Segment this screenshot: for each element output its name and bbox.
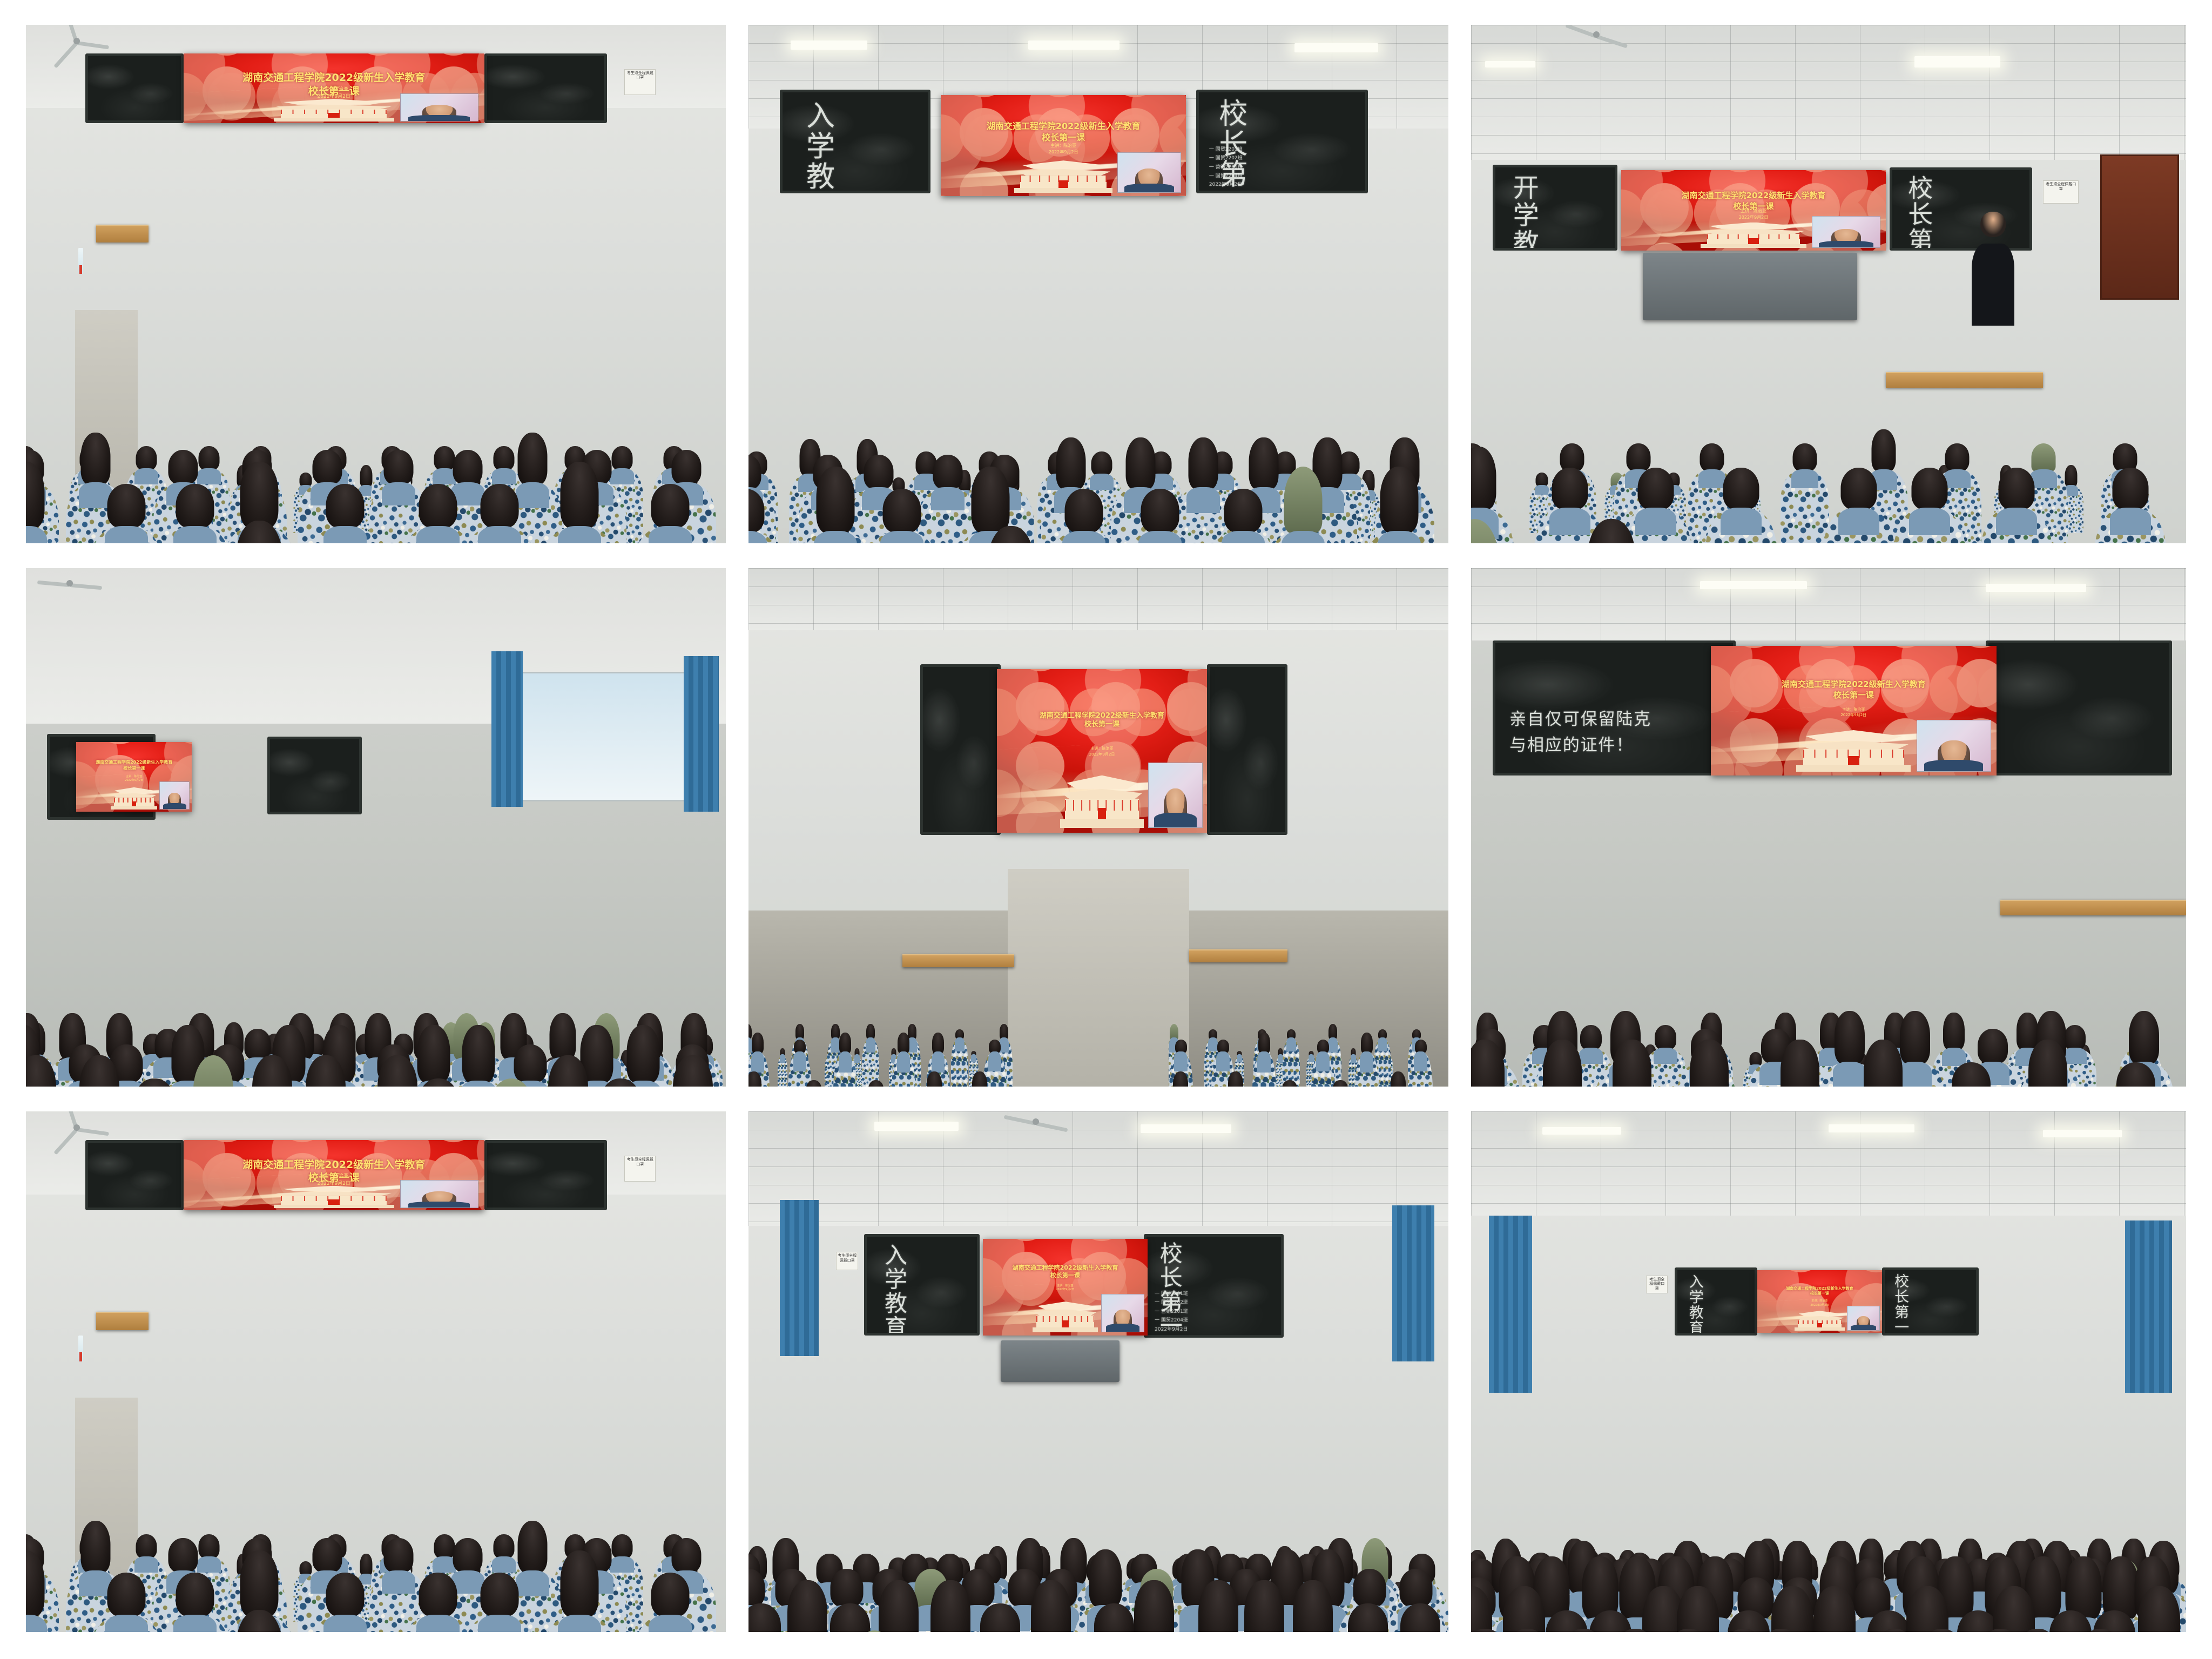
classroom-scene: 湖南交通工程学院2022级新生入学教育 校长第一课 主讲：陈治亚 2022年9月… (26, 1111, 726, 1632)
student-figure (26, 462, 64, 543)
student-figure (1380, 1603, 1448, 1632)
led-display: 湖南交通工程学院2022级新生入学教育 校长第一课 主讲：陈治亚 2022年9月… (184, 53, 484, 124)
student-figure (788, 1040, 812, 1087)
ceiling-light (1028, 41, 1119, 50)
student-figure (2097, 1062, 2175, 1087)
student-figure (748, 489, 784, 543)
blackboard-class-item: 一 国贸2202班 (1209, 156, 1243, 161)
seated-students (1471, 242, 2186, 543)
seated-students (26, 222, 726, 543)
student-figure (1355, 1033, 1379, 1087)
led-display: 湖南交通工程学院2022级新生入学教育 校长第一课 主讲：陈治亚 2022年9月… (184, 1140, 484, 1210)
student-figure (799, 1080, 829, 1087)
student-figure (1563, 519, 1660, 543)
ceiling (748, 568, 1448, 630)
slide-title-line2: 校长第一课 (1006, 720, 1199, 730)
seated-students-left (748, 765, 1028, 1087)
student-figure (1383, 1071, 1413, 1087)
seated-students (26, 1309, 726, 1632)
student-figure (1705, 468, 1777, 543)
student-figure (1220, 1071, 1251, 1087)
ceiling-light (791, 41, 868, 50)
blackboard-left (85, 53, 183, 124)
panel-2: 入学教育 校长第一课 一 国贸2201班一 国贸2202班一 营销2201班一 … (748, 25, 1448, 543)
student-figure (461, 484, 538, 543)
ceiling-fan-icon (1001, 1111, 1071, 1132)
blackboard-right (484, 1140, 607, 1210)
ceiling (1471, 25, 2186, 160)
student-figure (2053, 1629, 2149, 1632)
seated-students (26, 724, 726, 1087)
seated-students (748, 1289, 1448, 1632)
ceiling-light (1986, 584, 2086, 592)
slide-title: 湖南交通工程学院2022级新生入学教育 校长第一课 (951, 121, 1176, 143)
student-figure (26, 1550, 64, 1632)
slide-title-line1: 湖南交通工程学院2022级新生入学教育 (1006, 712, 1199, 721)
student-figure (307, 1573, 383, 1632)
student-figure (1283, 1029, 1300, 1087)
ceiling-light (1542, 1127, 1621, 1135)
speaker-video-inset (400, 93, 478, 122)
slide-subtitle: 主讲：陈治亚 2022年9月2日 (1006, 746, 1199, 757)
ceiling-light (1141, 1124, 1231, 1133)
ceiling-fan-icon (47, 30, 106, 52)
student-figure (1670, 1040, 1748, 1087)
student-figure (1471, 519, 1523, 543)
slide-title: 湖南交通工程学院2022级新生入学教育 校长第一课 (1006, 712, 1199, 730)
student-figure (1893, 468, 1966, 543)
student-figure (862, 1024, 879, 1087)
blackboard-class-item: 一 国贸2201班 (1209, 147, 1243, 152)
tiananmen-gate-graphic (1060, 775, 1144, 828)
slide-title-line2: 校长第一课 (989, 1272, 1141, 1279)
slide-title-line2: 校长第一课 (951, 132, 1176, 143)
classroom-scene: 入学教育 校长第一课 一 国贸2201班一 国贸2202班一 营销2201班一 … (748, 25, 1448, 543)
student-figure (88, 484, 165, 543)
student-figure (1311, 1040, 1335, 1087)
classroom-scene: 亲自仅可保留陆克 与相应的证件！ 湖南交通工程学院2022级新生入学教育 校长第… (1471, 568, 2186, 1087)
classroom-scene: 湖南交通工程学院2022级新生入学教育 校长第一课 主讲：陈治亚 2022年9月… (26, 568, 726, 1087)
tiananmen-gate-graphic (274, 1186, 394, 1209)
wall-notice: 考生须全程佩戴口罩 (2043, 180, 2079, 204)
student-figure (1523, 1040, 1601, 1087)
student-figure (1325, 1080, 1355, 1087)
classroom-scene: 湖南交通工程学院2022级新生入学教育 校长第一课 主讲：陈治亚 2022年9月… (26, 25, 726, 543)
student-figure (212, 1610, 306, 1632)
student-figure (541, 1550, 618, 1632)
panel-4: 湖南交通工程学院2022级新生入学教育 校长第一课 主讲：陈治亚 2022年9月… (26, 568, 726, 1087)
slide-title-line1: 湖南交通工程学院2022级新生入学教育 (195, 1158, 473, 1171)
student-figure (1733, 1629, 1829, 1632)
student-figure (286, 1055, 366, 1087)
student-figure (541, 462, 618, 543)
ceiling (1471, 568, 2186, 640)
student-figure (632, 484, 709, 543)
student-figure (827, 1630, 921, 1632)
student-figure (1122, 489, 1198, 543)
blackboard-class-item: 一 营销2201班 (1209, 165, 1243, 170)
slide-title: 湖南交通工程学院2022级新生入学教育 校长第一课 (989, 1264, 1141, 1279)
photo-collage: 湖南交通工程学院2022级新生入学教育 校长第一课 主讲：陈治亚 2022年9月… (0, 0, 2212, 1659)
classroom-scene: 入学教育 校长第一课 一 国贸2201班一 国贸2202班一 营销2201班一 … (748, 1111, 1448, 1632)
slide-presenter: 主讲：陈治亚 (195, 1173, 473, 1181)
student-figure (1471, 1040, 1524, 1087)
student-figure (748, 1071, 769, 1087)
panel-9: 入学教育 校长第一课 湖南交通工程学院2022级新生入学教育 校长第一课 主讲：… (1471, 1111, 2186, 1632)
slide-presenter: 主讲：陈治亚 (195, 86, 473, 94)
seated-students (748, 170, 1448, 543)
panel-7: 湖南交通工程学院2022级新生入学教育 校长第一课 主讲：陈治亚 2022年9月… (26, 1111, 726, 1632)
blackboard-right-text: 校长第一课 (1906, 175, 1932, 251)
ceiling-light (874, 1122, 959, 1130)
student-figure (1169, 1071, 1196, 1087)
ceiling-light (1914, 56, 2000, 68)
panel-1: 湖南交通工程学院2022级新生入学教育 校长第一课 主讲：陈治亚 2022年9月… (26, 25, 726, 543)
student-figure (88, 1573, 165, 1632)
student-figure (307, 484, 383, 543)
ceiling-fan-icon (47, 1117, 106, 1138)
slide-date: 2022年9月2日 (1006, 752, 1199, 758)
slide-title-line1: 湖南交通工程学院2022级新生入学教育 (951, 121, 1176, 132)
panel-3: 开学教育 校长第一课 湖南交通工程学院2022级新生入学教育 校长第一课 主讲：… (1471, 25, 2186, 543)
blackboard-right (484, 53, 607, 124)
slide-title-line1: 湖南交通工程学院2022级新生入学教育 (989, 1264, 1141, 1272)
student-figure (461, 1573, 538, 1632)
slide-presenter: 主讲：陈治亚 (951, 143, 1176, 149)
blackboard-left (85, 1140, 183, 1210)
student-figure (1593, 1040, 1671, 1087)
classroom-scene: 湖南交通工程学院2022级新生入学教育 校长第一课 主讲：陈治亚 2022年9月… (748, 568, 1448, 1087)
student-figure (1361, 467, 1438, 543)
presentation-slide: 湖南交通工程学院2022级新生入学教育 校长第一课 主讲：陈治亚 2022年9月… (184, 1140, 484, 1210)
ceiling-light (1485, 61, 1535, 68)
presentation-slide: 湖南交通工程学院2022级新生入学教育 校长第一课 主讲：陈治亚 2022年9月… (1621, 170, 1886, 251)
panel-8: 入学教育 校长第一课 一 国贸2201班一 国贸2202班一 营销2201班一 … (748, 1111, 1448, 1632)
student-figure (2094, 468, 2167, 543)
seated-students (1471, 1267, 2186, 1632)
seated-students-right (1169, 765, 1448, 1087)
speaker-video-inset (400, 1180, 478, 1208)
ceiling-fan-icon (1564, 25, 1629, 44)
slide-presenter: 主讲：陈治亚 (1006, 746, 1199, 752)
slide-title-line1: 湖南交通工程学院2022级新生入学教育 (1632, 191, 1876, 201)
center-aisle (1008, 869, 1190, 1087)
student-figure (1252, 1033, 1276, 1087)
student-figure (653, 1055, 726, 1087)
student-figure (833, 1033, 857, 1087)
student-figure (1844, 1040, 1922, 1087)
led-display: 湖南交通工程学院2022级新生入学教育 校长第一课 主讲：陈治亚 2022年9月… (1621, 170, 1886, 251)
student-figure (212, 521, 306, 543)
student-figure (778, 1048, 787, 1087)
wall-notice: 考生须全程佩戴口罩 (836, 1252, 858, 1270)
student-figure (2117, 1586, 2186, 1632)
student-figure (919, 1071, 949, 1087)
student-figure (1932, 1062, 2010, 1087)
blackboard-left: 开学教育 (1493, 165, 1618, 250)
blackboard-left-text: 开学教育 (1509, 174, 1536, 251)
ceiling (748, 1111, 1448, 1226)
student-figure (399, 1078, 478, 1087)
student-figure (1980, 468, 2053, 543)
panel-6: 亲自仅可保留陆克 与相应的证件！ 湖南交通工程学院2022级新生入学教育 校长第… (1471, 568, 2186, 1087)
ceiling-light (1700, 581, 1808, 589)
student-figure (797, 467, 874, 543)
tiananmen-gate-graphic (274, 99, 394, 121)
student-figure (864, 489, 940, 543)
presentation-slide: 湖南交通工程学院2022级新生入学教育 校长第一课 主讲：陈治亚 2022年9月… (184, 53, 484, 124)
student-figure (892, 1033, 915, 1087)
ceiling-light (1829, 1124, 1914, 1132)
student-figure (632, 1573, 709, 1632)
student-figure (964, 526, 1058, 543)
seated-students (1471, 682, 2186, 1087)
wall-notice: 考生须全程佩戴口罩 (624, 69, 656, 95)
student-figure (965, 1071, 995, 1087)
slide-title-line1: 湖南交通工程学院2022级新生入学教育 (195, 71, 473, 84)
slide-presenter: 主讲：陈治亚 (1632, 208, 1876, 214)
student-figure (861, 1080, 891, 1087)
student-figure (1265, 467, 1341, 543)
student-figure (1781, 443, 1829, 543)
classroom-scene: 入学教育 校长第一课 湖南交通工程学院2022级新生入学教育 校长第一课 主讲：… (1471, 1111, 2186, 1632)
student-figure (1274, 1080, 1305, 1087)
student-figure (2009, 1040, 2087, 1087)
classroom-scene: 开学教育 校长第一课 湖南交通工程学院2022级新生入学教育 校长第一课 主讲：… (1471, 25, 2186, 543)
student-figure (581, 1078, 660, 1087)
student-figure (1761, 1040, 1839, 1087)
ceiling-fan-icon (40, 574, 99, 593)
ceiling-light (2043, 1130, 2122, 1137)
wall-notice: 考生须全程佩戴口罩 (624, 1156, 656, 1182)
panel-5: 湖南交通工程学院2022级新生入学教育 校长第一课 主讲：陈治亚 2022年9月… (748, 568, 1448, 1087)
ceiling-light (1294, 43, 1379, 52)
student-figure (1823, 468, 1895, 543)
